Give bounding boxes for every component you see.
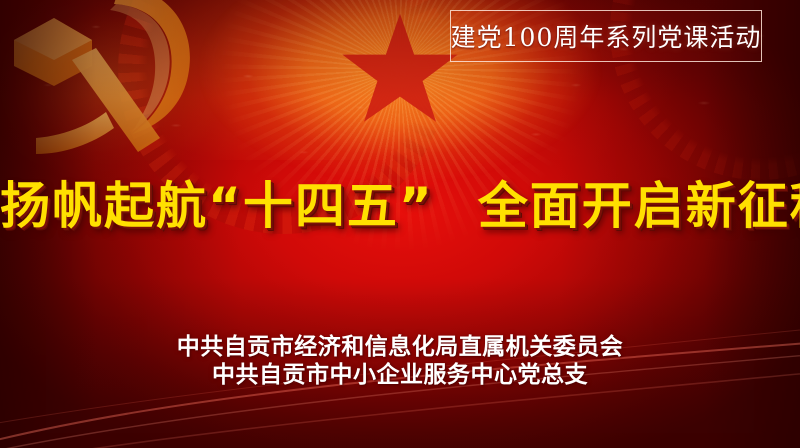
event-banner: 建党100周年系列党课活动 bbox=[450, 10, 762, 62]
event-banner-label: 建党100周年系列党课活动 bbox=[451, 18, 762, 54]
organization-line: 中共自贡市中小企业服务中心党总支 bbox=[0, 361, 800, 389]
presentation-slide: 建党100周年系列党课活动 扬帆起航“十四五”全面开启新征程 中共自贡市经济和信… bbox=[0, 0, 800, 448]
page-title-part2: 全面开启新征程 bbox=[478, 177, 800, 235]
page-title: 扬帆起航“十四五”全面开启新征程 bbox=[0, 166, 800, 238]
organization-block: 中共自贡市经济和信息化局直属机关委员会 中共自贡市中小企业服务中心党总支 bbox=[0, 333, 800, 389]
organization-line: 中共自贡市经济和信息化局直属机关委员会 bbox=[0, 333, 800, 361]
page-title-part1: 扬帆起航“十四五” bbox=[0, 177, 434, 235]
